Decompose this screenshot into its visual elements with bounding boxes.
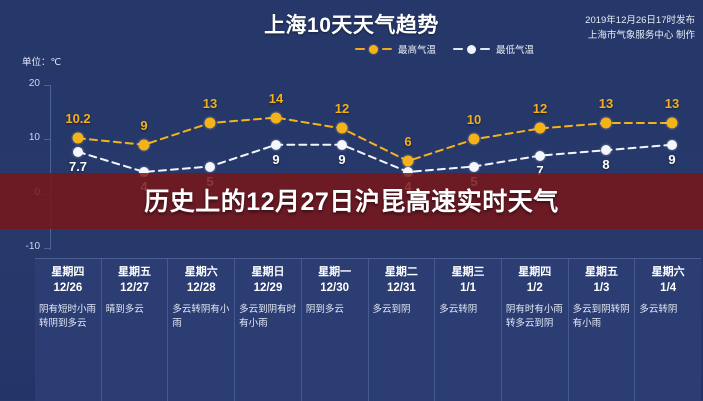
- forecast-day-column: 星期二12/31多云到阴: [369, 259, 436, 401]
- weather-description: 多云到阴: [373, 303, 431, 317]
- data-point-low: [667, 140, 677, 150]
- value-label-high: 13: [665, 96, 679, 111]
- forecast-day-column: 星期五1/3多云到阴转阴有小雨: [569, 259, 636, 401]
- forecast-day-column: 星期六1/4多云转阴: [635, 259, 701, 401]
- weekday-label: 星期日: [239, 265, 297, 280]
- date-label: 1/1: [439, 280, 497, 296]
- weekday-label: 星期五: [106, 265, 164, 280]
- weather-description: 多云转阴有小雨: [172, 303, 230, 331]
- forecast-day-column: 星期日12/29多云到阴有时有小雨: [235, 259, 302, 401]
- weather-description: 多云到阴转阴有小雨: [573, 303, 631, 331]
- data-point-low: [73, 147, 83, 157]
- data-point-high: [403, 156, 414, 167]
- weekday-label: 星期五: [573, 265, 631, 280]
- weather-chart-image: 上海10天天气趋势 2019年12月26日17时发布 上海市气象服务中心 制作 …: [0, 0, 703, 400]
- forecast-day-column: 星期四12/26阴有短时小雨转阴到多云: [35, 259, 102, 401]
- weather-description: 阴到多云: [306, 303, 364, 317]
- weather-description: 多云到阴有时有小雨: [239, 303, 297, 331]
- date-label: 12/29: [239, 280, 297, 296]
- date-label: 12/27: [106, 280, 164, 296]
- overlay-title: 历史上的12月27日沪昆高速实时天气: [0, 182, 703, 218]
- data-point-high: [601, 118, 612, 129]
- date-label: 12/31: [373, 280, 431, 296]
- weekday-label: 星期六: [639, 265, 697, 280]
- forecast-table: 星期四12/26阴有短时小雨转阴到多云星期五12/27晴到多云星期六12/28多…: [35, 258, 701, 401]
- value-label-low: 9: [668, 152, 675, 167]
- date-label: 1/4: [639, 280, 697, 296]
- data-point-low: [469, 162, 479, 172]
- weekday-label: 星期三: [439, 265, 497, 280]
- value-label-high: 12: [533, 101, 547, 116]
- value-label-high: 10.2: [65, 111, 90, 126]
- weather-description: 多云转阴: [639, 303, 697, 317]
- date-label: 12/26: [39, 280, 97, 296]
- weather-description: 阴有时有小雨转多云到阴: [506, 303, 564, 331]
- value-label-high: 9: [140, 118, 147, 133]
- data-point-low: [337, 140, 347, 150]
- forecast-day-column: 星期五12/27晴到多云: [102, 259, 169, 401]
- weekday-label: 星期四: [39, 265, 97, 280]
- date-label: 1/3: [573, 280, 631, 296]
- data-point-high: [73, 133, 84, 144]
- data-point-high: [667, 118, 678, 129]
- value-label-high: 10: [467, 112, 481, 127]
- data-point-low: [535, 151, 545, 161]
- weekday-label: 星期六: [172, 265, 230, 280]
- forecast-day-column: 星期六12/28多云转阴有小雨: [168, 259, 235, 401]
- data-point-high: [139, 139, 150, 150]
- value-label-low: 8: [602, 157, 609, 172]
- data-point-low: [205, 162, 215, 172]
- value-label-high: 12: [335, 101, 349, 116]
- forecast-day-column: 星期四1/2阴有时有小雨转多云到阴: [502, 259, 569, 401]
- forecast-day-column: 星期一12/30阴到多云: [302, 259, 369, 401]
- data-point-high: [271, 112, 282, 123]
- data-point-high: [469, 134, 480, 145]
- data-point-high: [535, 123, 546, 134]
- value-label-low: 7.7: [69, 159, 87, 174]
- forecast-day-column: 星期三1/1多云转阴: [435, 259, 502, 401]
- weather-description: 多云转阴: [439, 303, 497, 317]
- value-label-high: 14: [269, 91, 283, 106]
- weather-description: 晴到多云: [106, 303, 164, 317]
- data-point-high: [337, 123, 348, 134]
- value-label-low: 9: [272, 152, 279, 167]
- weather-description: 阴有短时小雨转阴到多云: [39, 303, 97, 331]
- data-point-low: [601, 145, 611, 155]
- date-label: 1/2: [506, 280, 564, 296]
- date-label: 12/30: [306, 280, 364, 296]
- data-point-high: [205, 118, 216, 129]
- value-label-high: 6: [404, 134, 411, 149]
- weekday-label: 星期二: [373, 265, 431, 280]
- value-label-low: 9: [338, 152, 345, 167]
- data-point-low: [271, 140, 281, 150]
- weekday-label: 星期四: [506, 265, 564, 280]
- date-label: 12/28: [172, 280, 230, 296]
- value-label-high: 13: [203, 96, 217, 111]
- weekday-label: 星期一: [306, 265, 364, 280]
- value-label-high: 13: [599, 96, 613, 111]
